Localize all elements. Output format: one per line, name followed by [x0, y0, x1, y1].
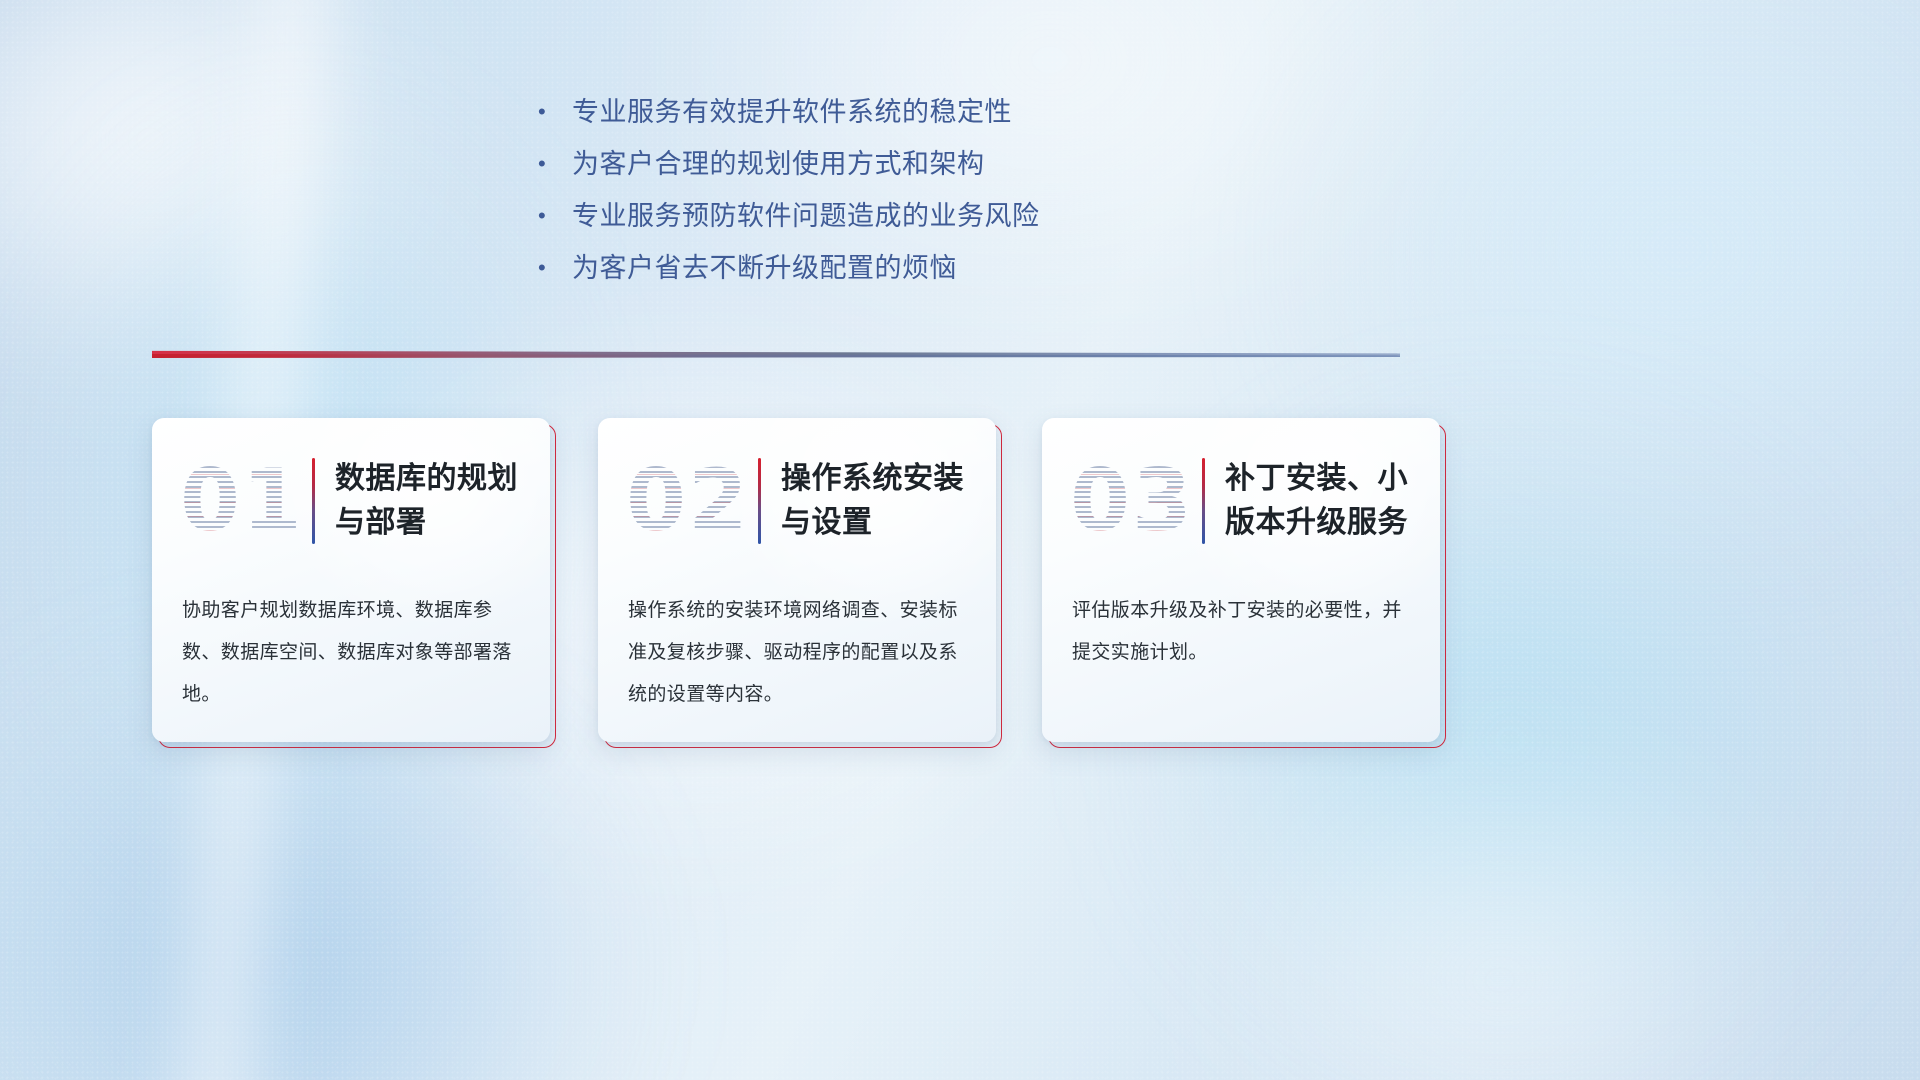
card-title: 操作系统安装与设置 [781, 457, 996, 545]
list-item: • 专业服务预防软件问题造成的业务风险 [538, 190, 1178, 242]
card-number-tint: 03 [1066, 446, 1198, 556]
bullet-item-label: 专业服务预防软件问题造成的业务风险 [572, 190, 1040, 242]
card-number-watermark: 03 03 [1066, 446, 1198, 556]
card-number-watermark: 01 01 [176, 446, 308, 556]
service-card[interactable]: 03 03 补丁安装、小版本升级服务 评估版本升级及补丁安装的必要性，并提交实施… [1042, 418, 1446, 748]
card-header: 02 02 操作系统安装与设置 [598, 440, 996, 562]
bullet-point-icon: • [538, 86, 572, 138]
list-item: • 专业服务有效提升软件系统的稳定性 [538, 86, 1178, 138]
card-description: 协助客户规划数据库环境、数据库参数、数据库空间、数据库对象等部署落地。 [182, 590, 522, 716]
card-surface: 02 02 操作系统安装与设置 操作系统的安装环境网络调查、安装标准及复核步骤、… [598, 418, 996, 742]
bullet-item-label: 为客户省去不断升级配置的烦恼 [572, 242, 957, 294]
benefits-bullet-list: • 专业服务有效提升软件系统的稳定性 • 为客户合理的规划使用方式和架构 • 专… [538, 86, 1178, 294]
card-header: 01 01 数据库的规划与部署 [152, 440, 550, 562]
card-accent-bar [1202, 458, 1205, 544]
list-item: • 为客户省去不断升级配置的烦恼 [538, 242, 1178, 294]
card-description: 评估版本升级及补丁安装的必要性，并提交实施计划。 [1072, 590, 1412, 674]
bullet-point-icon: • [538, 190, 572, 242]
card-title: 补丁安装、小版本升级服务 [1225, 457, 1440, 545]
list-item: • 为客户合理的规划使用方式和架构 [538, 138, 1178, 190]
section-divider [152, 350, 1400, 364]
service-card[interactable]: 02 02 操作系统安装与设置 操作系统的安装环境网络调查、安装标准及复核步骤、… [598, 418, 1002, 748]
bullet-item-label: 为客户合理的规划使用方式和架构 [572, 138, 985, 190]
card-number-watermark: 02 02 [622, 446, 754, 556]
bullet-point-icon: • [538, 242, 572, 294]
bullet-item-label: 专业服务有效提升软件系统的稳定性 [572, 86, 1012, 138]
card-description: 操作系统的安装环境网络调查、安装标准及复核步骤、驱动程序的配置以及系统的设置等内… [628, 590, 968, 716]
card-header: 03 03 补丁安装、小版本升级服务 [1042, 440, 1440, 562]
card-surface: 01 01 数据库的规划与部署 协助客户规划数据库环境、数据库参数、数据库空间、… [152, 418, 550, 742]
card-surface: 03 03 补丁安装、小版本升级服务 评估版本升级及补丁安装的必要性，并提交实施… [1042, 418, 1440, 742]
service-card[interactable]: 01 01 数据库的规划与部署 协助客户规划数据库环境、数据库参数、数据库空间、… [152, 418, 556, 748]
card-title: 数据库的规划与部署 [335, 457, 550, 545]
card-number-tint: 01 [176, 446, 308, 556]
card-accent-bar [312, 458, 315, 544]
service-cards: 01 01 数据库的规划与部署 协助客户规划数据库环境、数据库参数、数据库空间、… [0, 418, 1920, 758]
bullet-point-icon: • [538, 138, 572, 190]
card-accent-bar [758, 458, 761, 544]
card-number-tint: 02 [622, 446, 754, 556]
